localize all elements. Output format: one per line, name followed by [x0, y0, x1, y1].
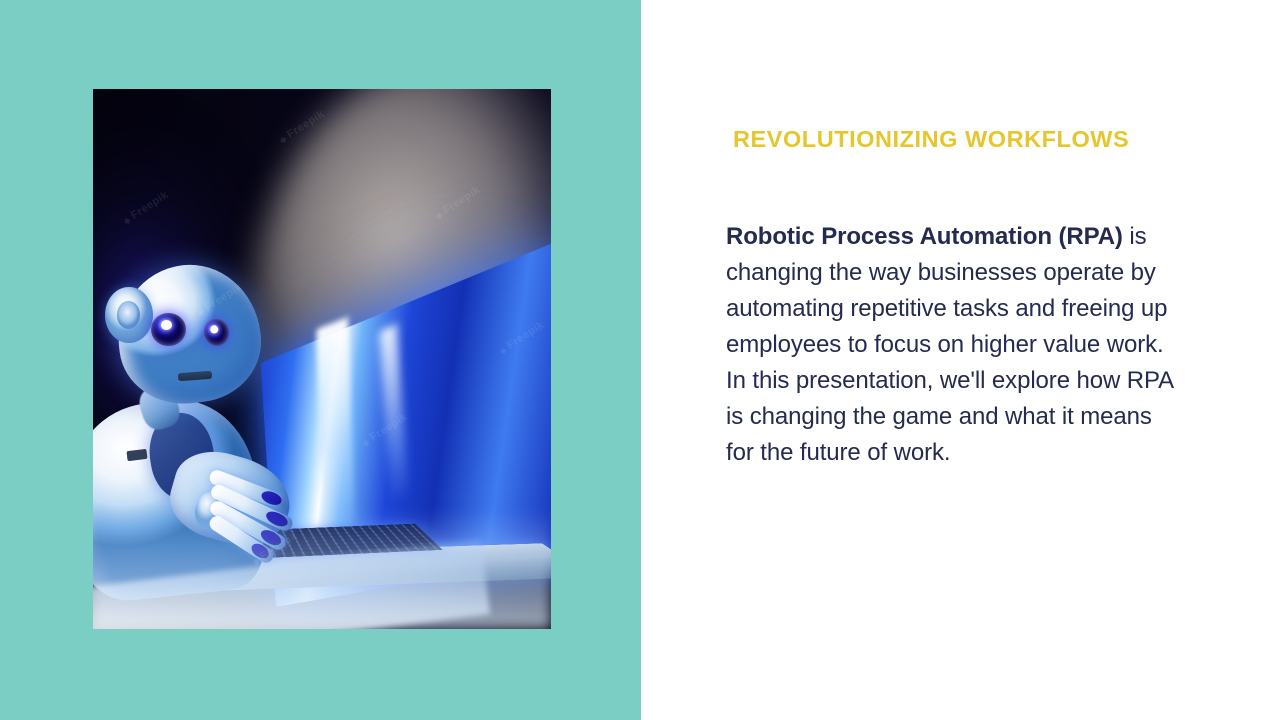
- robot-eye-left: [151, 313, 186, 346]
- slide-body-paragraph: Robotic Process Automation (RPA) is chan…: [726, 219, 1178, 471]
- robot-eye-highlight: [161, 320, 171, 330]
- robot-photo-frame: Freepik Freepik Freepik Freepik Freepik …: [93, 89, 551, 629]
- robot-ear: [105, 287, 153, 344]
- robot-eye-highlight: [210, 325, 219, 334]
- body-lead-bold: Robotic Process Automation (RPA): [726, 223, 1123, 250]
- body-rest-text: is changing the way businesses operate b…: [726, 223, 1173, 466]
- slide-root: Freepik Freepik Freepik Freepik Freepik …: [0, 0, 1283, 720]
- right-content-panel: REVOLUTIONIZING WORKFLOWS Robotic Proces…: [641, 0, 1283, 720]
- robot-photo: Freepik Freepik Freepik Freepik Freepik …: [93, 89, 551, 629]
- robot-ear-inner: [117, 301, 140, 328]
- slide-eyebrow-heading: REVOLUTIONIZING WORKFLOWS: [733, 126, 1129, 153]
